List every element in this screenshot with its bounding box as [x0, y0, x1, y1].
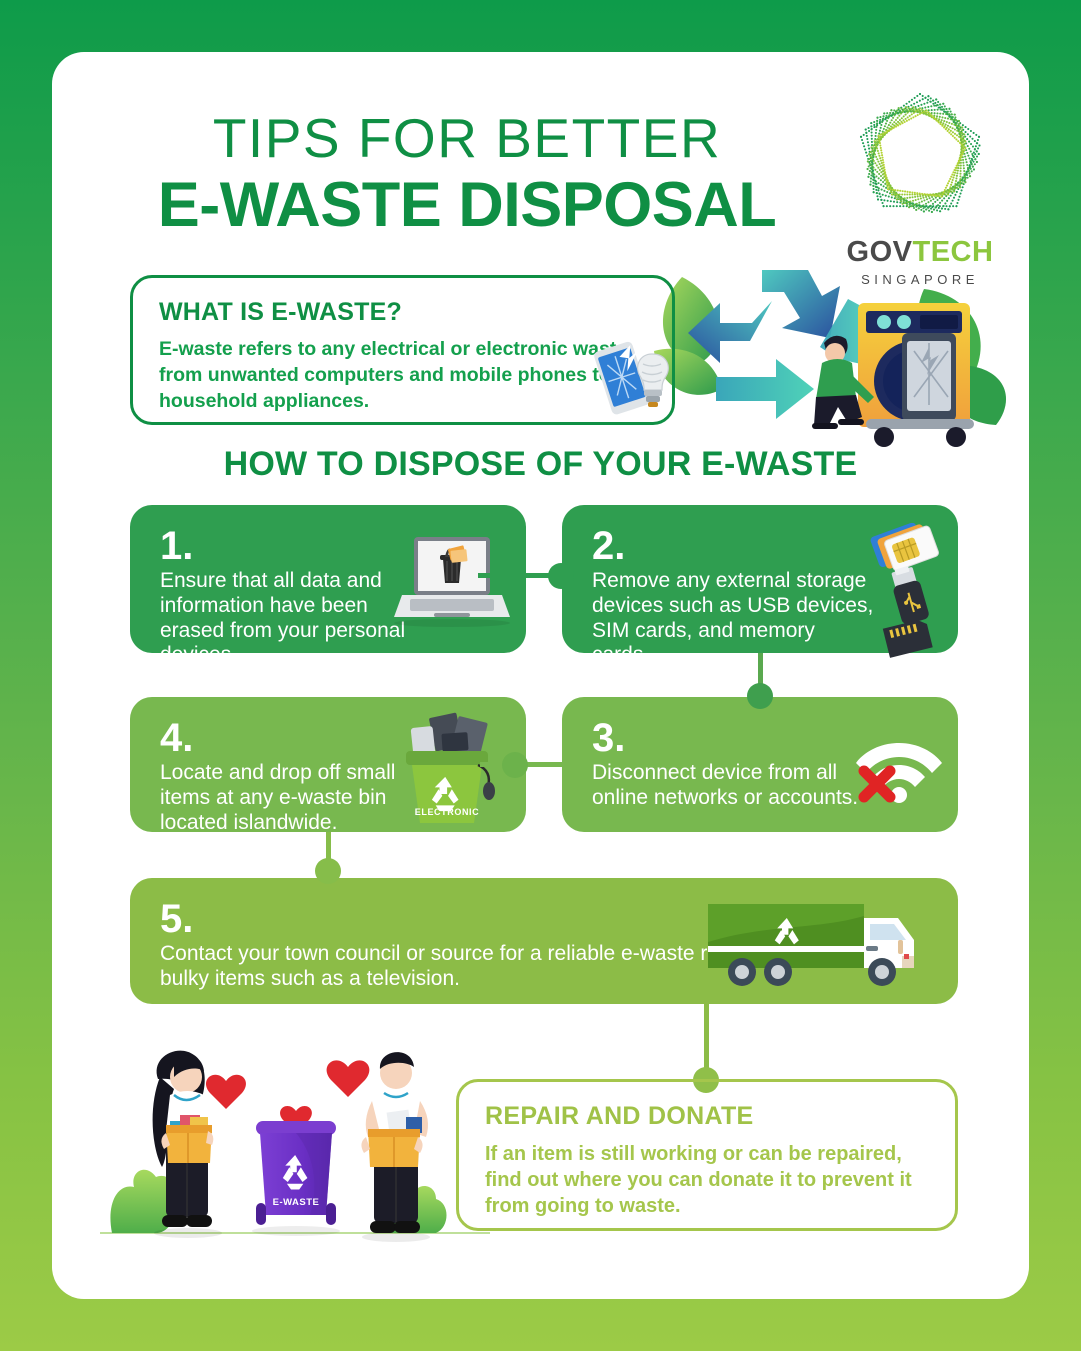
repair-donate-title: REPAIR AND DONATE: [485, 1102, 929, 1131]
section-heading: HOW TO DISPOSE OF YOUR E-WASTE: [52, 445, 1029, 484]
step-card-1: 1. Ensure that all data and information …: [130, 505, 526, 653]
step-text-4: Locate and drop off small items at any e…: [160, 761, 400, 835]
connector-dot-1-2: [548, 563, 574, 589]
step-text-3: Disconnect device from all online networ…: [592, 761, 892, 811]
what-is-ewaste-body: E-waste refers to any electrical or elec…: [159, 337, 646, 415]
step-card-5: 5. Contact your town council or source f…: [130, 878, 958, 1004]
electronic-recycle-bin-icon: ELECTRONIC: [386, 707, 506, 827]
step-card-3: 3. Disconnect device from all online net…: [562, 697, 958, 832]
step-text-2: Remove any external storage devices such…: [592, 569, 877, 668]
what-is-ewaste-title: WHAT IS E-WASTE?: [159, 298, 646, 327]
what-is-ewaste-box: WHAT IS E-WASTE? E-waste refers to any e…: [130, 275, 675, 425]
connector-dot-2-3: [747, 683, 773, 709]
bin-caption: ELECTRONIC: [415, 807, 480, 817]
title-line-2: E-WASTE DISPOSAL: [52, 172, 882, 238]
repair-and-donate-box: REPAIR AND DONATE If an item is still wo…: [456, 1079, 958, 1231]
connector-dot-4-5: [315, 858, 341, 884]
govtech-dotted-pentagon-icon: [845, 84, 995, 234]
people-donating-illustration: E-WASTE: [100, 1037, 490, 1287]
connector-dot-3-4: [502, 752, 528, 778]
broken-phone-and-bulb-icon: [592, 336, 684, 416]
title-line-1: TIPS FOR BETTER: [52, 110, 882, 168]
repair-donate-body: If an item is still working or can be re…: [485, 1141, 929, 1219]
step-card-4: 4. Locate and drop off small items at an…: [130, 697, 526, 832]
page-title: TIPS FOR BETTER E-WASTE DISPOSAL: [52, 110, 882, 238]
purple-ewaste-bin-icon: E-WASTE: [252, 1121, 340, 1236]
laptop-with-trash-icon: [392, 533, 512, 631]
recycling-arrows-illustration: [652, 247, 1012, 447]
step-text-1: Ensure that all data and information hav…: [160, 569, 425, 668]
recycling-truck-icon: [706, 896, 932, 996]
wifi-disconnected-icon: [856, 735, 942, 805]
step-card-2: 2. Remove any external storage devices s…: [562, 505, 958, 653]
sim-usb-memorycard-icon: [862, 523, 954, 659]
infographic-card: TIPS FOR BETTER E-WASTE DISPOSAL GOVTECH…: [52, 52, 1029, 1299]
bin-label: E-WASTE: [273, 1197, 320, 1208]
